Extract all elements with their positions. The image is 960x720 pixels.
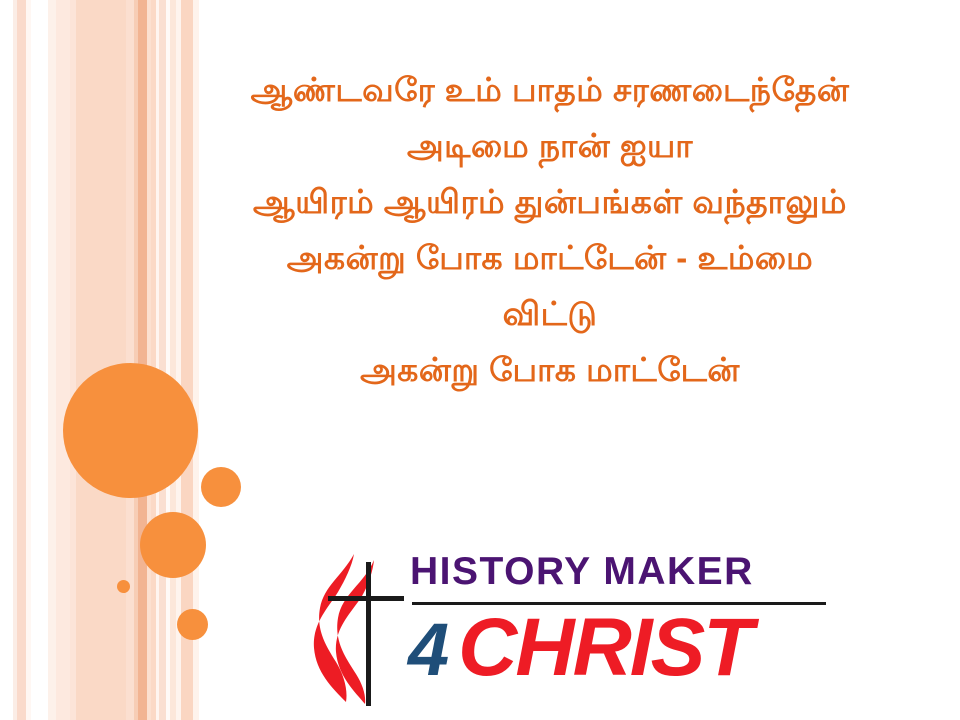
logo-christ-text: CHRIST	[458, 602, 751, 693]
logo-numeral-4: 4	[408, 608, 448, 691]
history-maker-4-christ-logo: HISTORY MAKER 4CHRIST	[312, 548, 832, 708]
presentation-slide: ஆண்டவரே உம் பாதம் சரணடைந்தேன் அடிமை நான்…	[0, 0, 960, 720]
logo-wordmark: HISTORY MAKER 4CHRIST	[408, 548, 832, 706]
lyric-line-5: விட்டு	[150, 286, 950, 342]
circle-dot	[117, 580, 130, 593]
lyric-text-block: ஆண்டவரே உம் பாதம் சரணடைந்தேன் அடிமை நான்…	[150, 62, 950, 398]
circle-small-bottom	[177, 609, 208, 640]
lyric-line-6: அகன்று போக மாட்டேன்	[150, 342, 950, 398]
lyric-line-4: அகன்று போக மாட்டேன் - உம்மை	[150, 230, 950, 286]
lyric-line-1: ஆண்டவரே உம் பாதம் சரணடைந்தேன்	[150, 62, 950, 118]
circle-medium	[140, 512, 206, 578]
logo-history-maker-text: HISTORY MAKER	[410, 550, 754, 594]
logo-bottom-line: 4CHRIST	[408, 606, 751, 692]
lyric-line-3: ஆயிரம் ஆயிரம் துன்பங்கள் வந்தாலும்	[150, 174, 950, 230]
cross-and-flame-icon	[312, 550, 412, 706]
circle-small-right	[201, 467, 241, 507]
lyric-line-2: அடிமை நான் ஐயா	[150, 118, 950, 174]
